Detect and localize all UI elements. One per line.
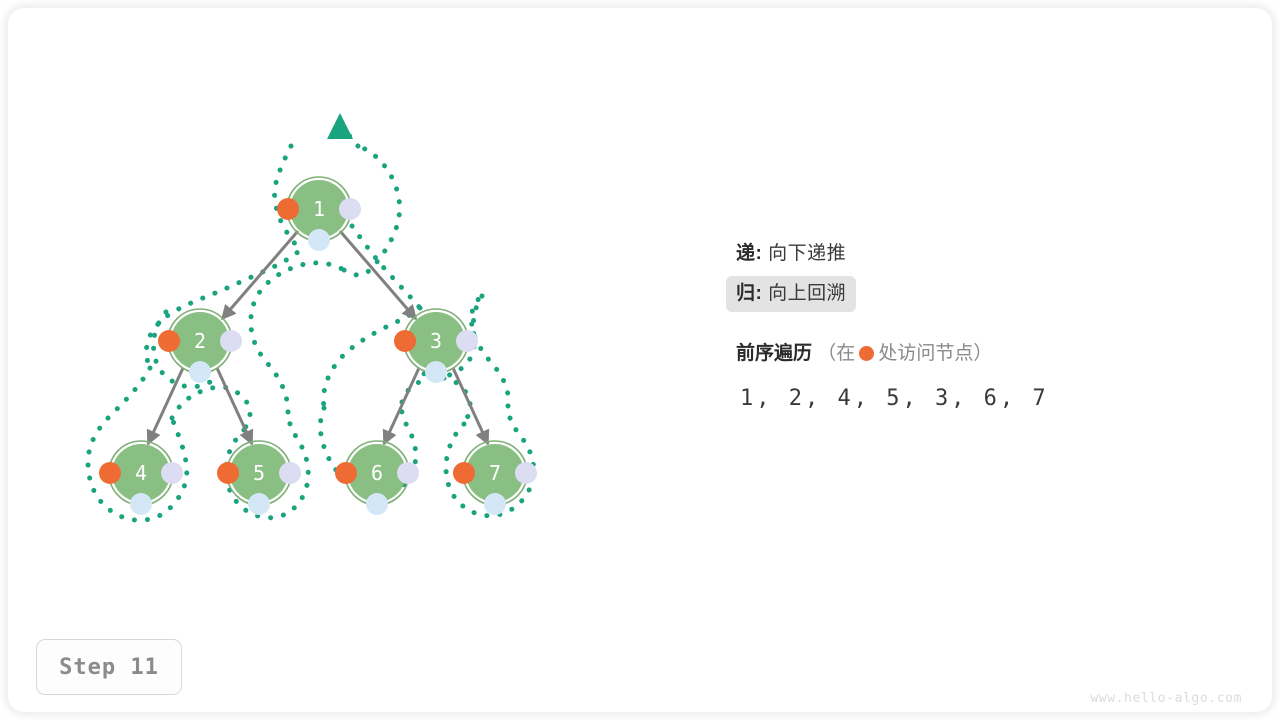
watermark: www.hello-algo.com	[1090, 691, 1242, 706]
edge-3-7	[453, 368, 488, 444]
node-7-right-dot	[515, 462, 537, 484]
node-1-bottom-dot	[308, 229, 330, 251]
traversal-order-sequence: 1, 2, 4, 5, 3, 6, 7	[726, 386, 1226, 411]
tree-nodes: 1 2 3	[99, 177, 537, 515]
legend-backtrack-body: 向上回溯	[768, 283, 846, 304]
node-6-visit-dot	[335, 462, 357, 484]
step-badge-label: Step 11	[59, 655, 159, 680]
visit-marker-icon	[859, 346, 874, 361]
screenshot-canvas: 1 2 3	[0, 0, 1280, 720]
traversal-order-paren-open: （在	[817, 343, 855, 364]
path-segment-n1-right-loop	[352, 226, 420, 308]
traversal-order-title: 前序遍历 （在处访问节点）	[726, 342, 1226, 367]
node-7-bottom-dot	[484, 493, 506, 515]
node-4-label: 4	[135, 461, 147, 485]
tree-node-2[interactable]: 2	[158, 309, 242, 383]
edge-1-2	[222, 231, 298, 319]
edge-1-3	[340, 231, 416, 319]
traversal-order-name: 前序遍历	[736, 343, 812, 364]
path-segment-n4-to-n5	[172, 387, 250, 430]
legend-recurse-body: 向下递推	[768, 243, 846, 264]
traversal-return-arrow-icon	[327, 113, 353, 139]
tree-node-7[interactable]: 7	[453, 441, 537, 515]
legend-spacer	[726, 312, 1226, 342]
node-4-bottom-dot	[130, 493, 152, 515]
node-3-bottom-dot	[425, 361, 447, 383]
legend-recurse-key: 递:	[736, 243, 762, 264]
node-5-label: 5	[253, 461, 265, 485]
node-1-label: 1	[313, 197, 325, 221]
node-1-right-dot	[339, 198, 361, 220]
node-2-visit-dot	[158, 330, 180, 352]
path-segment-n7-return	[471, 296, 508, 406]
tree-node-3[interactable]: 3	[394, 309, 478, 383]
legend-backtrack-key: 归:	[736, 283, 762, 304]
legend-row-recurse: 递: 向下递推	[726, 236, 856, 272]
tree-node-4[interactable]: 4	[99, 441, 183, 515]
node-7-label: 7	[489, 461, 501, 485]
node-6-bottom-dot	[366, 493, 388, 515]
tree-node-6[interactable]: 6	[335, 441, 419, 515]
node-6-label: 6	[371, 461, 383, 485]
path-segment-n2-return	[251, 263, 344, 412]
node-3-visit-dot	[394, 330, 416, 352]
node-3-right-dot	[456, 330, 478, 352]
node-4-right-dot	[161, 462, 183, 484]
node-6-right-dot	[397, 462, 419, 484]
path-segment-n3-to-n6	[324, 308, 421, 408]
node-4-visit-dot	[99, 462, 121, 484]
edge-3-6	[384, 368, 419, 444]
legend-panel: 递: 向下递推 归: 向上回溯 前序遍历 （在处访问节点） 1, 2, 4, 5…	[726, 236, 1226, 411]
node-3-label: 3	[430, 329, 442, 353]
node-5-visit-dot	[217, 462, 239, 484]
node-1-visit-dot	[277, 198, 299, 220]
node-2-label: 2	[194, 329, 206, 353]
traversal-order-paren-close: 处访问节点）	[878, 343, 992, 364]
node-5-bottom-dot	[248, 493, 270, 515]
node-2-right-dot	[220, 330, 242, 352]
legend-row-backtrack: 归: 向上回溯	[726, 276, 856, 312]
edge-2-5	[217, 368, 252, 444]
node-5-right-dot	[279, 462, 301, 484]
node-7-visit-dot	[453, 462, 475, 484]
step-badge: Step 11	[36, 639, 182, 695]
node-2-bottom-dot	[189, 361, 211, 383]
